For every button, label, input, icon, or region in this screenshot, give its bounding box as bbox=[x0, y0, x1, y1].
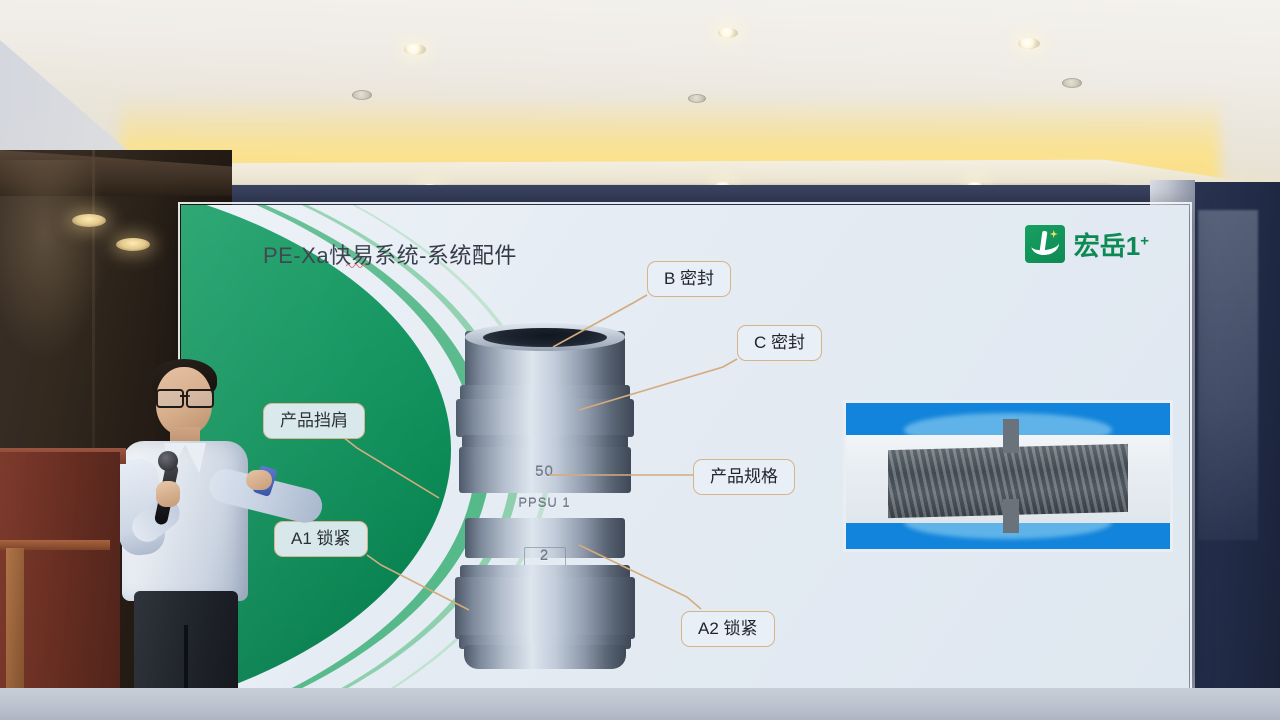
brand-logo: 宏岳1+ bbox=[1025, 225, 1149, 263]
wall-downlight-icon bbox=[72, 214, 106, 227]
pex-fitting-photo: 50 PPSU 1 50 2 bbox=[437, 313, 652, 668]
wall-downlight-icon bbox=[116, 238, 150, 251]
brand-name-sup: + bbox=[1140, 232, 1149, 249]
smoke-detector-icon bbox=[688, 94, 706, 103]
callout-product-spec[interactable]: 产品规格 bbox=[693, 459, 795, 495]
hongyue-logo-icon bbox=[1025, 225, 1065, 263]
fitting-body: 50 PPSU 1 50 2 bbox=[437, 313, 652, 668]
inset-stem-top bbox=[1003, 419, 1019, 453]
callout-b-seal-label: B 密封 bbox=[664, 269, 714, 288]
callout-c-seal[interactable]: C 密封 bbox=[737, 325, 822, 361]
projection-screen[interactable]: PE-Xa快易系统-系统配件 宏岳1+ bbox=[181, 205, 1189, 690]
smoke-detector-icon bbox=[1062, 78, 1082, 88]
right-wall-highlight bbox=[1198, 210, 1258, 540]
fitting-bottom-cap bbox=[464, 645, 626, 669]
smoke-detector-icon bbox=[352, 90, 372, 100]
presenter-hand-right bbox=[246, 470, 272, 490]
downlight-icon bbox=[404, 44, 426, 55]
fitting-bore bbox=[483, 328, 607, 347]
callout-b-seal[interactable]: B 密封 bbox=[647, 261, 731, 297]
callout-a1-lock-label: A1 锁紧 bbox=[291, 529, 351, 548]
callout-a2-lock[interactable]: A2 锁紧 bbox=[681, 611, 775, 647]
slide-title: PE-Xa快易系统-系统配件 bbox=[263, 238, 517, 270]
cross-section-photo bbox=[843, 400, 1173, 552]
screenshot-root: PE-Xa快易系统-系统配件 宏岳1+ bbox=[0, 0, 1280, 720]
inset-stem-bottom bbox=[1003, 499, 1019, 533]
brand-name-text: 宏岳1 bbox=[1074, 231, 1140, 261]
fitting-marking-number: 2 bbox=[540, 547, 549, 564]
brand-name: 宏岳1+ bbox=[1074, 226, 1149, 263]
downlight-icon bbox=[1018, 38, 1040, 49]
downlight-icon bbox=[718, 28, 738, 38]
fitting-marking-material: PPSU 1 bbox=[518, 495, 570, 510]
foreground-table bbox=[0, 688, 1280, 720]
glasses-icon bbox=[156, 389, 214, 404]
title-spellcheck-squiggle bbox=[346, 263, 366, 268]
fitting-bottom-barrel bbox=[455, 577, 635, 639]
callout-a2-lock-label: A2 锁紧 bbox=[698, 619, 758, 638]
microphone-head-icon bbox=[158, 451, 178, 471]
callout-product-spec-label: 产品规格 bbox=[710, 467, 778, 486]
fitting-ring-a bbox=[456, 399, 634, 437]
callout-product-shoulder-label: 产品挡肩 bbox=[280, 411, 348, 430]
fitting-marking-size-top: 50 bbox=[535, 463, 554, 480]
presenter-hand-left bbox=[156, 481, 180, 507]
callout-c-seal-label: C 密封 bbox=[754, 333, 805, 352]
